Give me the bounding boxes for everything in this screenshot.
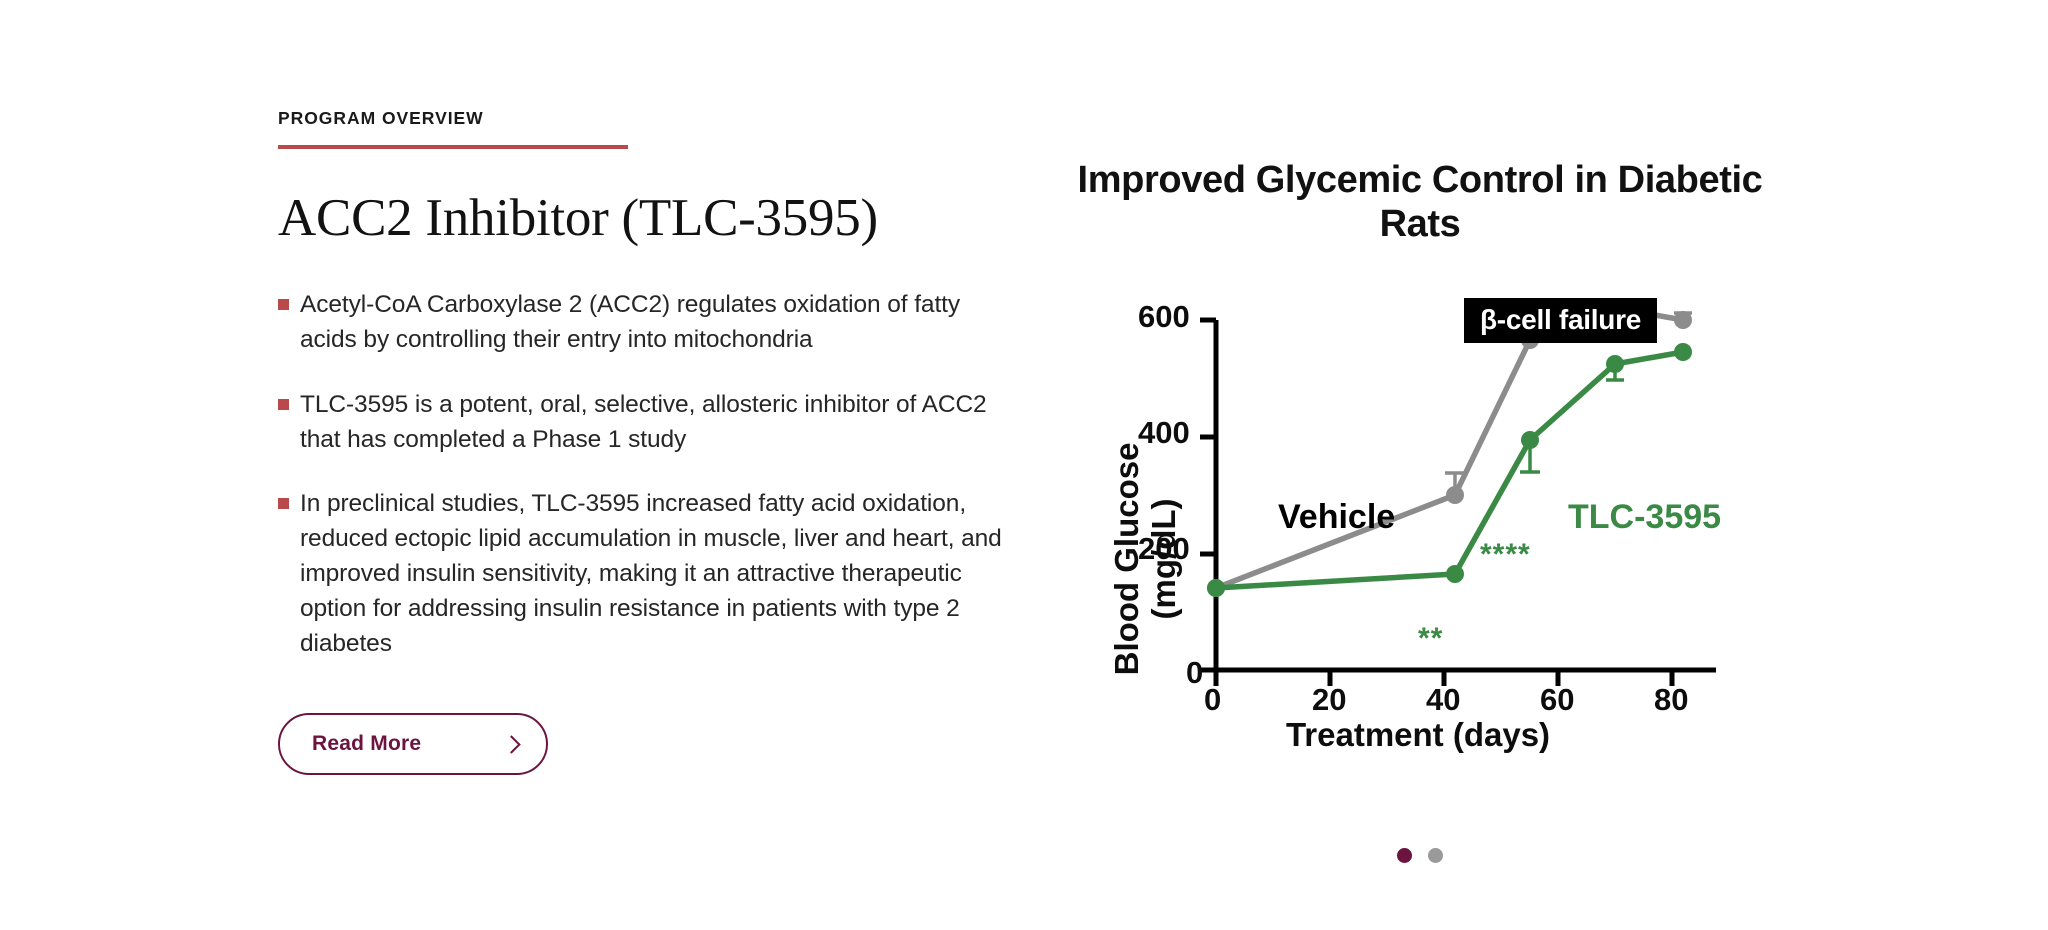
- list-item-text: Acetyl-CoA Carboxylase 2 (ACC2) regulate…: [300, 291, 960, 353]
- page-title: ACC2 Inhibitor (TLC-3595): [278, 189, 1018, 248]
- chart-x-axis-title: Treatment (days): [1158, 716, 1678, 754]
- section-eyebrow: PROGRAM OVERVIEW: [278, 108, 1018, 129]
- significance-marker-two-stars: **: [1418, 622, 1443, 656]
- list-item: Acetyl-CoA Carboxylase 2 (ACC2) regulate…: [278, 288, 1018, 358]
- list-item: In preclinical studies, TLC-3595 increas…: [278, 487, 1018, 661]
- eyebrow-underline-rule: [278, 145, 628, 149]
- program-overview-slide: PROGRAM OVERVIEW ACC2 Inhibitor (TLC-359…: [0, 0, 2048, 930]
- carousel-dot-2[interactable]: [1428, 848, 1443, 863]
- list-item-text: TLC-3595 is a potent, oral, selective, a…: [300, 391, 987, 453]
- square-bullet-icon: [278, 399, 289, 410]
- chart-series-tlc-3595: [1207, 343, 1692, 597]
- content-column: PROGRAM OVERVIEW ACC2 Inhibitor (TLC-359…: [278, 108, 1018, 775]
- series-label-tlc-3595: TLC-3595: [1568, 498, 1721, 537]
- square-bullet-icon: [278, 498, 289, 509]
- y-tick-label-200: 200: [1138, 531, 1190, 567]
- carousel-pagination: [1040, 848, 1800, 863]
- figure-column: Improved Glycemic Control in Diabetic Ra…: [1040, 0, 1800, 930]
- significance-marker-four-stars: ****: [1480, 538, 1531, 572]
- y-tick-label-400: 400: [1138, 415, 1190, 451]
- beta-cell-failure-badge: β-cell failure: [1464, 298, 1657, 343]
- x-tick-label-60: 60: [1540, 682, 1574, 718]
- y-tick-label-600: 600: [1138, 299, 1190, 335]
- x-tick-label-40: 40: [1426, 682, 1460, 718]
- y-tick-label-0: 0: [1186, 655, 1203, 691]
- x-tick-label-0: 0: [1204, 682, 1221, 718]
- series-label-vehicle: Vehicle: [1278, 498, 1395, 537]
- square-bullet-icon: [278, 299, 289, 310]
- x-tick-label-20: 20: [1312, 682, 1346, 718]
- carousel-dot-1[interactable]: [1397, 848, 1412, 863]
- feature-bullet-list: Acetyl-CoA Carboxylase 2 (ACC2) regulate…: [278, 288, 1018, 661]
- list-item-text: In preclinical studies, TLC-3595 increas…: [300, 490, 1002, 656]
- chart-plot-area: Blood Glucose (mg/dL) Treatment (days) 0…: [1040, 286, 1800, 786]
- chart-series-vehicle: [1207, 299, 1692, 597]
- list-item: TLC-3595 is a potent, oral, selective, a…: [278, 388, 1018, 458]
- chart-title: Improved Glycemic Control in Diabetic Ra…: [1040, 158, 1800, 246]
- read-more-button[interactable]: Read More: [278, 713, 548, 775]
- read-more-label: Read More: [312, 732, 421, 756]
- x-tick-label-80: 80: [1654, 682, 1688, 718]
- chevron-right-icon: [502, 735, 520, 753]
